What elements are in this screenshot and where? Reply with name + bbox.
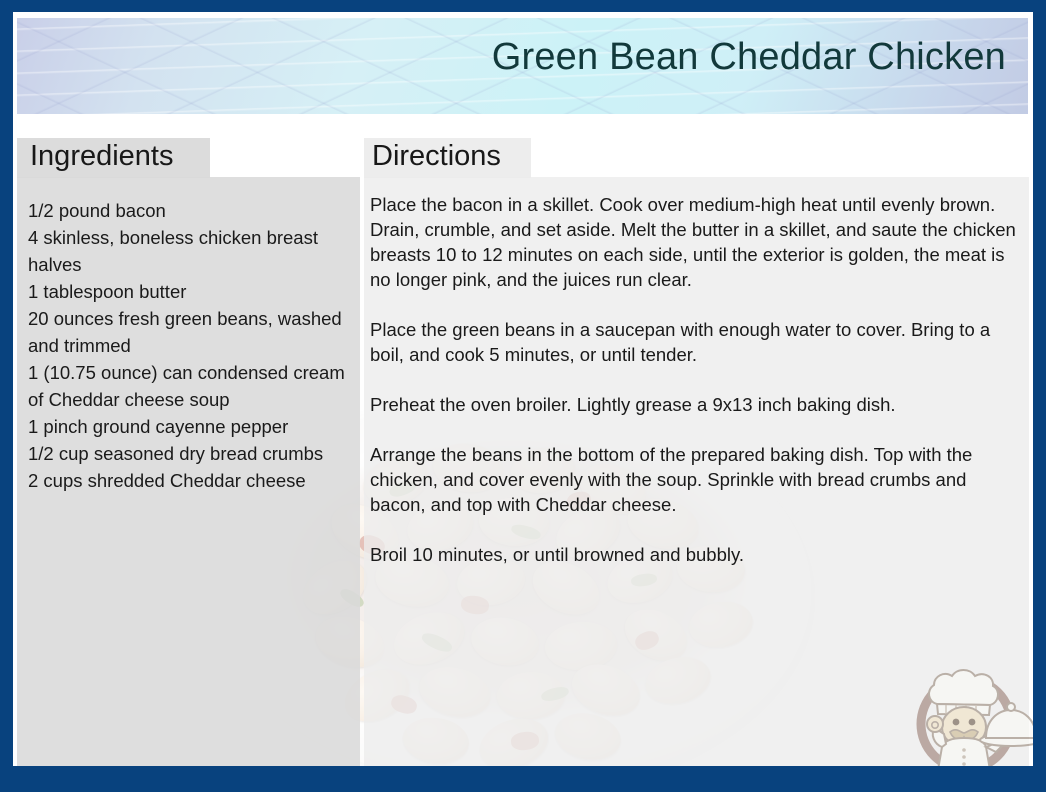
- recipe-title: Green Bean Cheddar Chicken: [492, 36, 1006, 79]
- chef-logo: [906, 652, 1033, 766]
- direction-step: Preheat the oven broiler. Lightly grease…: [370, 392, 1020, 417]
- recipe-card-page: Green Bean Cheddar Chicken: [0, 0, 1046, 792]
- direction-step: Arrange the beans in the bottom of the p…: [370, 442, 1020, 517]
- recipe-card-inner: Green Bean Cheddar Chicken: [13, 12, 1033, 766]
- ingredients-heading: Ingredients: [30, 140, 174, 173]
- ingredients-list: 1/2 pound bacon 4 skinless, boneless chi…: [28, 197, 358, 494]
- directions-heading: Directions: [372, 140, 501, 173]
- direction-step: Broil 10 minutes, or until browned and b…: [370, 542, 1020, 567]
- direction-step: Place the bacon in a skillet. Cook over …: [370, 192, 1020, 292]
- direction-step: Place the green beans in a saucepan with…: [370, 317, 1020, 367]
- chef-logo-icon: [906, 652, 1033, 766]
- title-banner: Green Bean Cheddar Chicken: [17, 18, 1028, 114]
- directions-body: Place the bacon in a skillet. Cook over …: [370, 192, 1020, 567]
